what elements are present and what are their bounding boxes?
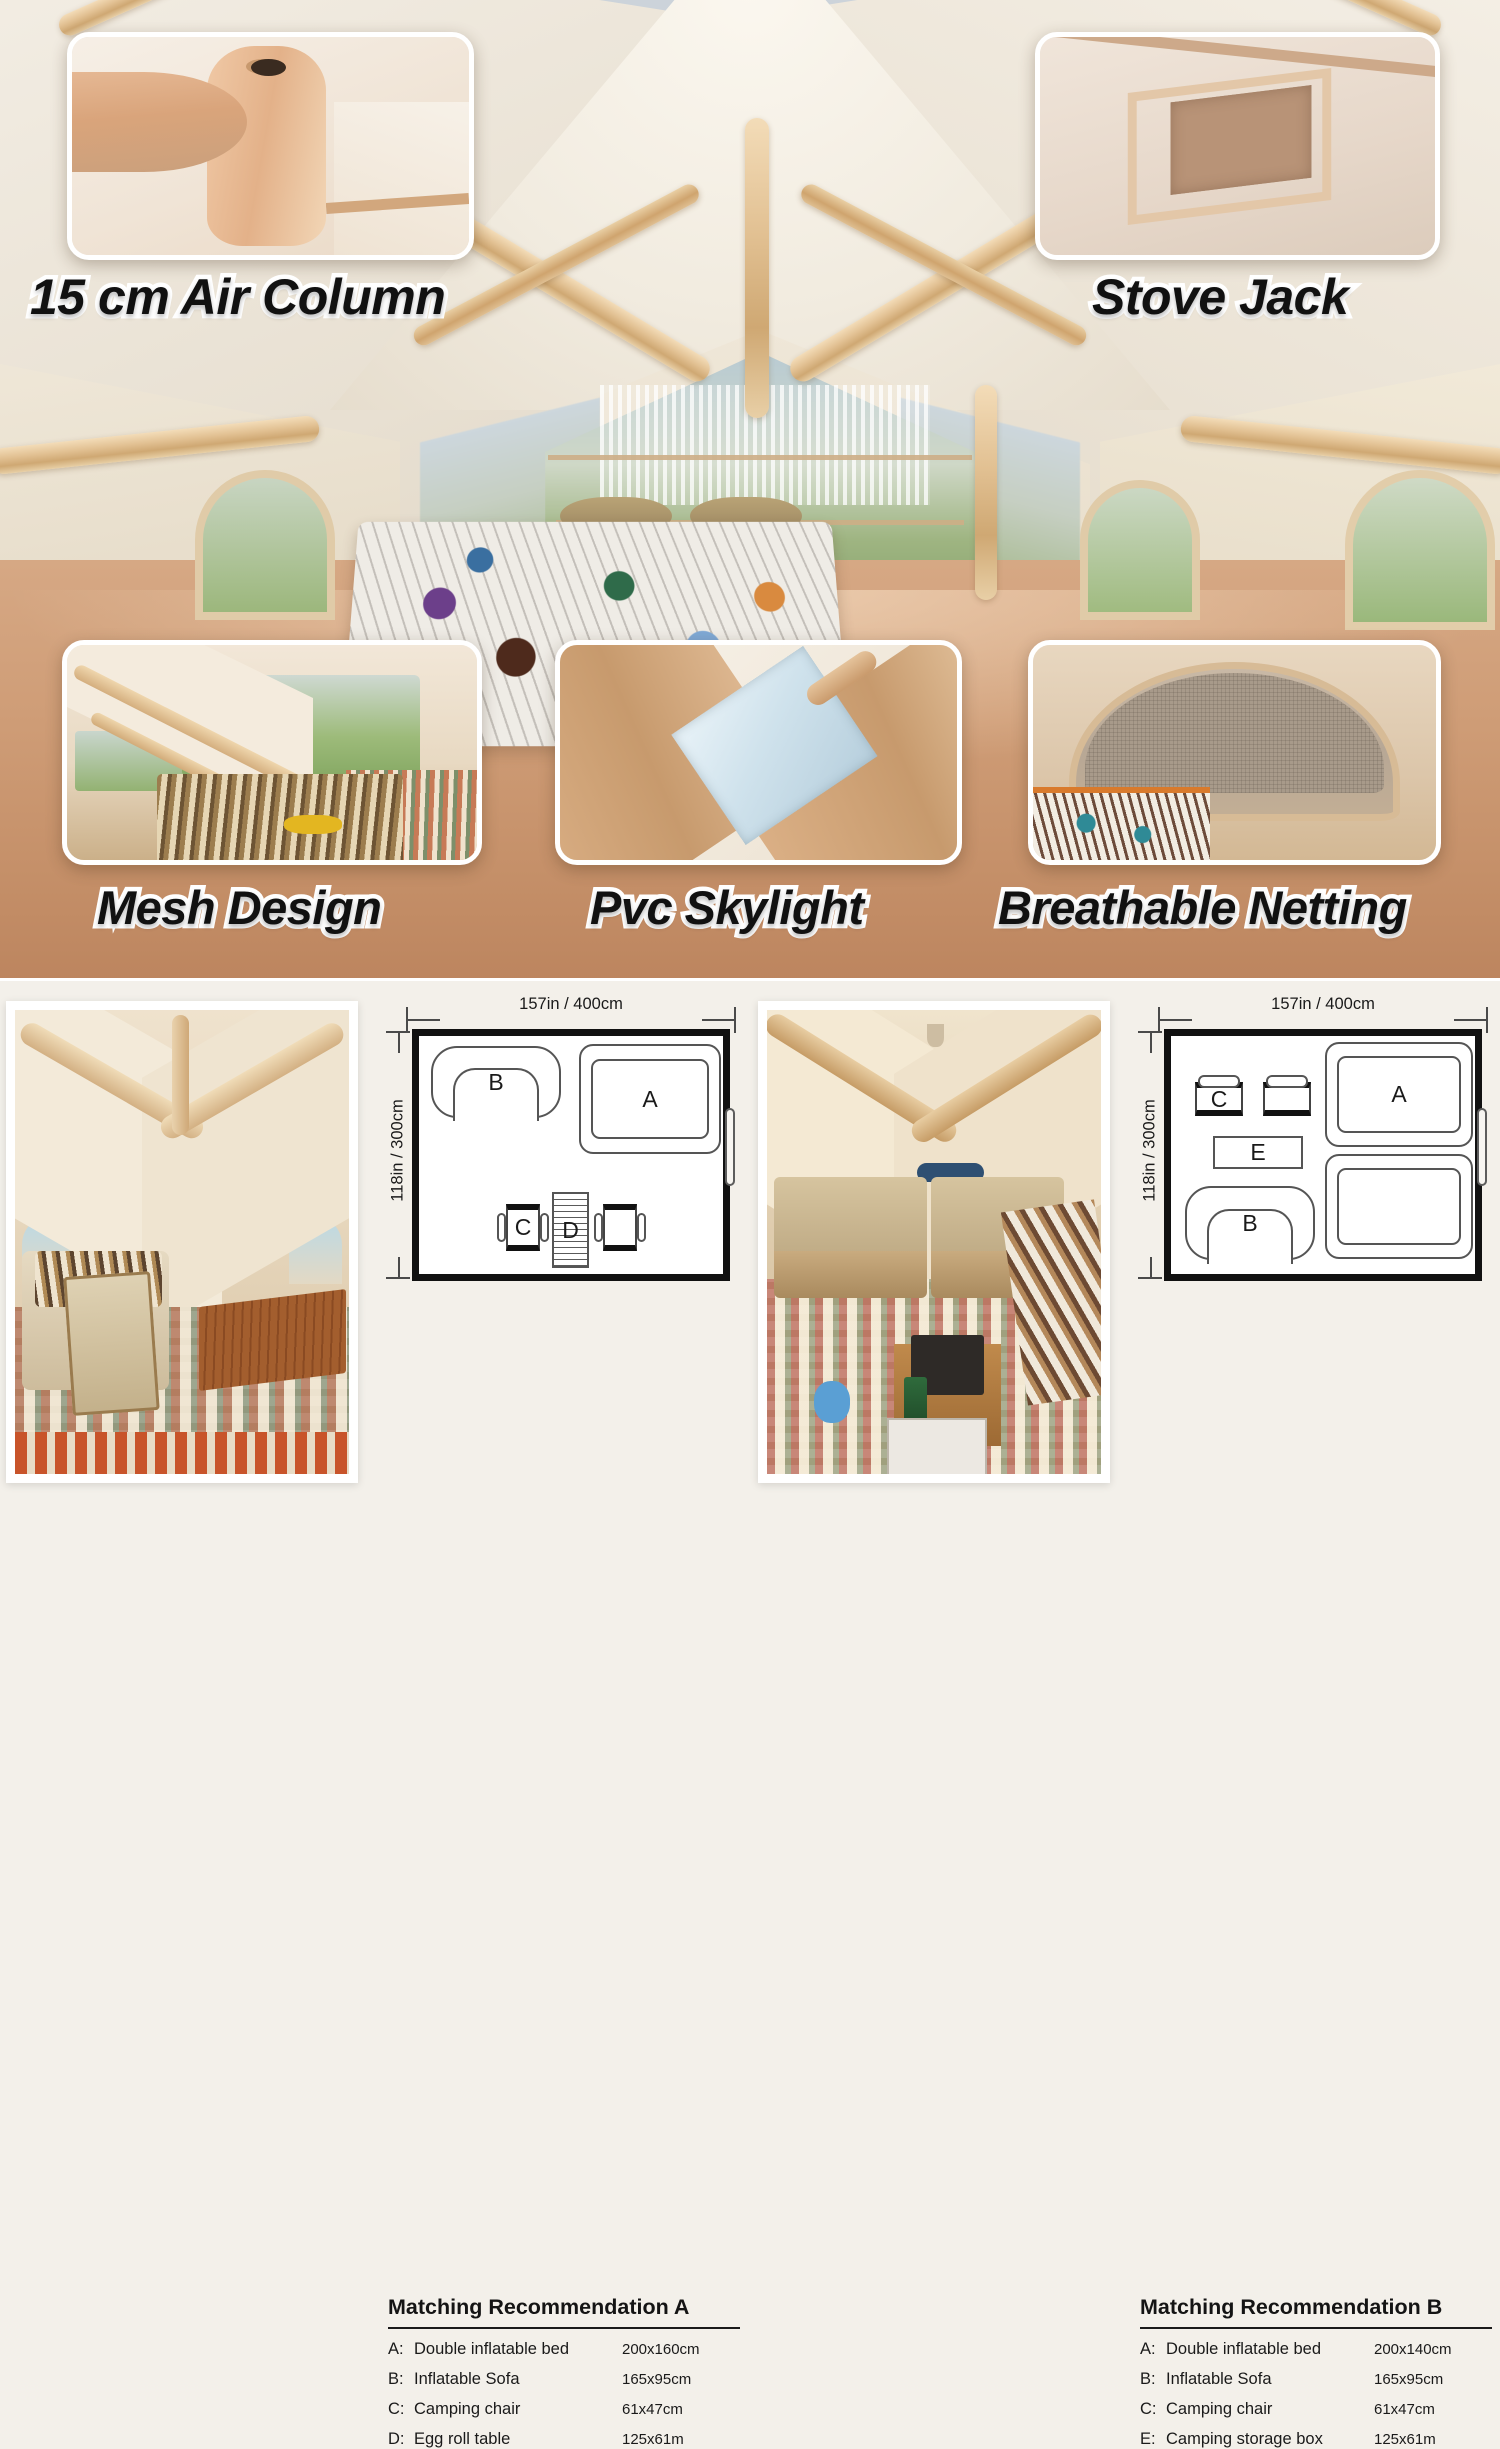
plan-a-height-dimension: 118in / 300cm: [389, 1066, 408, 1236]
legend-b-key-3: E:: [1140, 2430, 1166, 2449]
air-column-icon: [72, 37, 469, 255]
plan-a-chair-c: C: [506, 1204, 540, 1251]
legend-b-title: Matching Recommendation B: [1140, 2295, 1492, 2329]
legend-b-row-2: C: Camping chair 61x47cm: [1140, 2400, 1492, 2419]
plan-a-room: B A C D: [412, 1029, 730, 1281]
plan-b-bed-second: [1325, 1154, 1473, 1259]
plan-a-marker-d: D: [554, 1194, 587, 1266]
plan-a-door-handle: [725, 1108, 735, 1186]
legend-a-size-0: 200x160cm: [622, 2341, 740, 2358]
plan-b-height-dimension: 118in / 300cm: [1141, 1066, 1160, 1236]
feature-label-stove-jack: Stove Jack: [1092, 268, 1348, 326]
legend-a-name-1: Inflatable Sofa: [414, 2370, 622, 2389]
legend-b-key-0: A:: [1140, 2340, 1166, 2359]
legend-b-name-0: Double inflatable bed: [1166, 2340, 1374, 2359]
plan-b-marker-e: E: [1215, 1138, 1301, 1167]
floor-plan-b: 157in / 400cm 118in / 300cm C E B: [1128, 989, 1494, 1319]
plan-a-table-d: D: [552, 1192, 589, 1268]
legend-a-size-1: 165x95cm: [622, 2371, 740, 2388]
legend-a-key-3: D:: [388, 2430, 414, 2449]
stove-jack-icon: [1040, 37, 1435, 255]
legend-plan-b: Matching Recommendation B A: Double infl…: [1140, 2295, 1492, 2449]
pvc-skylight-icon: [560, 645, 957, 860]
mesh-design-icon: [67, 645, 477, 860]
plan-a-marker-a: A: [581, 1046, 719, 1152]
feature-inset-breathable-netting: [1028, 640, 1441, 865]
feature-inset-mesh-design: [62, 640, 482, 865]
feature-inset-air-column: [67, 32, 474, 260]
legend-b-row-1: B: Inflatable Sofa 165x95cm: [1140, 2370, 1492, 2389]
feature-label-breathable-netting: Breathable Netting: [998, 880, 1407, 935]
legend-a-name-2: Camping chair: [414, 2400, 622, 2419]
floor-plan-a: 157in / 400cm 118in / 300cm B A C: [376, 989, 742, 1319]
plan-b-room: C E B A: [1164, 1029, 1482, 1281]
plan-b-chair-c: C: [1195, 1082, 1243, 1116]
breathable-netting-icon: [1033, 645, 1436, 860]
legend-b-size-2: 61x47cm: [1374, 2401, 1492, 2418]
plan-b-sofa-b: B: [1185, 1186, 1315, 1260]
legend-a-row-1: B: Inflatable Sofa 165x95cm: [388, 2370, 740, 2389]
specs-section: 157in / 400cm 118in / 300cm B A C: [0, 978, 1500, 1500]
legend-a-row-3: D: Egg roll table 125x61m: [388, 2430, 740, 2449]
plan-b-marker-c: C: [1197, 1088, 1241, 1110]
feature-label-mesh-design: Mesh Design: [97, 880, 381, 935]
feature-label-pvc-skylight: Pvc Skylight: [590, 880, 864, 935]
legend-b-key-2: C:: [1140, 2400, 1166, 2419]
legend-b-name-1: Inflatable Sofa: [1166, 2370, 1374, 2389]
plan-b-marker-a: A: [1327, 1044, 1471, 1145]
legend-b-name-2: Camping chair: [1166, 2400, 1374, 2419]
plan-b-storage-box-e: E: [1213, 1136, 1303, 1169]
plan-b-marker-b: B: [1187, 1188, 1313, 1258]
plan-a-chair-second: [603, 1204, 637, 1251]
legend-plan-a: Matching Recommendation A A: Double infl…: [388, 2295, 740, 2449]
legend-a-title: Matching Recommendation A: [388, 2295, 740, 2329]
plan-a-sofa-b: B: [431, 1046, 561, 1118]
legend-a-name-0: Double inflatable bed: [414, 2340, 622, 2359]
legend-b-size-3: 125x61m: [1374, 2431, 1492, 2448]
legend-b-row-3: E: Camping storage box 125x61m: [1140, 2430, 1492, 2449]
plan-b-photo: [758, 1001, 1110, 1483]
feature-inset-stove-jack: [1035, 32, 1440, 260]
legend-a-name-3: Egg roll table: [414, 2430, 622, 2449]
plan-a-bed-a: A: [579, 1044, 721, 1154]
legend-b-name-3: Camping storage box: [1166, 2430, 1374, 2449]
plan-b-door-handle: [1477, 1108, 1487, 1186]
plan-a-marker-b: B: [433, 1048, 559, 1116]
legend-b-size-0: 200x140cm: [1374, 2341, 1492, 2358]
legend-a-key-0: A:: [388, 2340, 414, 2359]
plan-a-width-dimension: 157in / 400cm: [412, 995, 730, 1014]
legend-a-size-2: 61x47cm: [622, 2401, 740, 2418]
hero-feature-section: 15 cm Air Column Stove Jack Mesh Design …: [0, 0, 1500, 978]
plan-a-marker-c: C: [508, 1210, 538, 1245]
legend-a-row-2: C: Camping chair 61x47cm: [388, 2400, 740, 2419]
feature-label-air-column: 15 cm Air Column: [30, 268, 445, 326]
plan-a-photo: [6, 1001, 358, 1483]
legend-a-size-3: 125x61m: [622, 2431, 740, 2448]
feature-inset-pvc-skylight: [555, 640, 962, 865]
plan-b-chair-second: [1263, 1082, 1311, 1116]
plan-b-bed-a: A: [1325, 1042, 1473, 1147]
plan-b-width-dimension: 157in / 400cm: [1164, 995, 1482, 1014]
legend-b-key-1: B:: [1140, 2370, 1166, 2389]
legend-a-key-1: B:: [388, 2370, 414, 2389]
legend-a-key-2: C:: [388, 2400, 414, 2419]
legend-a-row-0: A: Double inflatable bed 200x160cm: [388, 2340, 740, 2359]
legend-b-row-0: A: Double inflatable bed 200x140cm: [1140, 2340, 1492, 2359]
legend-b-size-1: 165x95cm: [1374, 2371, 1492, 2388]
